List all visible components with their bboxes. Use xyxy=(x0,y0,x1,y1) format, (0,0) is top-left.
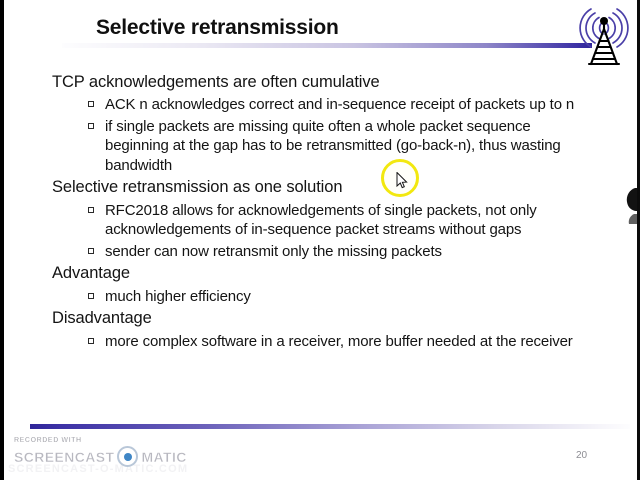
footer-divider-rule xyxy=(30,424,630,429)
square-bullet-icon xyxy=(88,207,94,213)
screencast-o-matic-watermark: RECORDED WITH SCREENCAST MATIC xyxy=(14,437,187,467)
bullet-level2: more complex software in a receiver, mor… xyxy=(52,332,597,352)
bullet-level1: Disadvantage xyxy=(52,308,597,329)
slide-number: 20 xyxy=(576,450,587,461)
square-bullet-icon xyxy=(88,338,94,344)
square-bullet-icon xyxy=(88,101,94,107)
mouse-pointer-icon[interactable] xyxy=(396,172,408,190)
square-bullet-icon xyxy=(88,123,94,129)
square-bullet-icon xyxy=(88,248,94,254)
slide-canvas: Selective retransmission xyxy=(0,0,640,480)
bullet-level2-text: if single packets are missing quite ofte… xyxy=(105,118,561,174)
bullet-level2-text: RFC2018 allows for acknowledgements of s… xyxy=(105,202,537,239)
webcam-overlay-sliver xyxy=(621,186,637,296)
watermark-recorded-with-label: RECORDED WITH xyxy=(14,437,187,444)
bullet-level2: RFC2018 allows for acknowledgements of s… xyxy=(52,201,597,240)
bullet-level2-text: much higher efficiency xyxy=(105,288,251,305)
bullet-level2: sender can now retransmit only the missi… xyxy=(52,242,597,262)
bullet-level1: TCP acknowledgements are often cumulativ… xyxy=(52,72,597,93)
title-divider-rule xyxy=(62,43,592,48)
bullet-level2: ACK n acknowledges correct and in-sequen… xyxy=(52,95,597,115)
bullet-level1: Advantage xyxy=(52,263,597,284)
radio-tower-icon xyxy=(560,0,638,66)
bullet-level2-text: more complex software in a receiver, mor… xyxy=(105,333,573,350)
video-left-edge-bar xyxy=(0,0,4,480)
watermark-brand-right: MATIC xyxy=(141,449,186,465)
square-bullet-icon xyxy=(88,293,94,299)
bullet-level2-text: ACK n acknowledges correct and in-sequen… xyxy=(105,96,574,113)
watermark-brand-left: SCREENCAST xyxy=(14,449,114,465)
bullet-level2-text: sender can now retransmit only the missi… xyxy=(105,243,442,260)
bullet-level1: Selective retransmission as one solution xyxy=(52,177,597,198)
slide-title: Selective retransmission xyxy=(96,16,339,40)
watermark-record-dot-icon xyxy=(117,446,138,467)
slide-body: TCP acknowledgements are often cumulativ… xyxy=(52,72,597,353)
bullet-level2: if single packets are missing quite ofte… xyxy=(52,117,597,176)
bullet-level2: much higher efficiency xyxy=(52,287,597,307)
